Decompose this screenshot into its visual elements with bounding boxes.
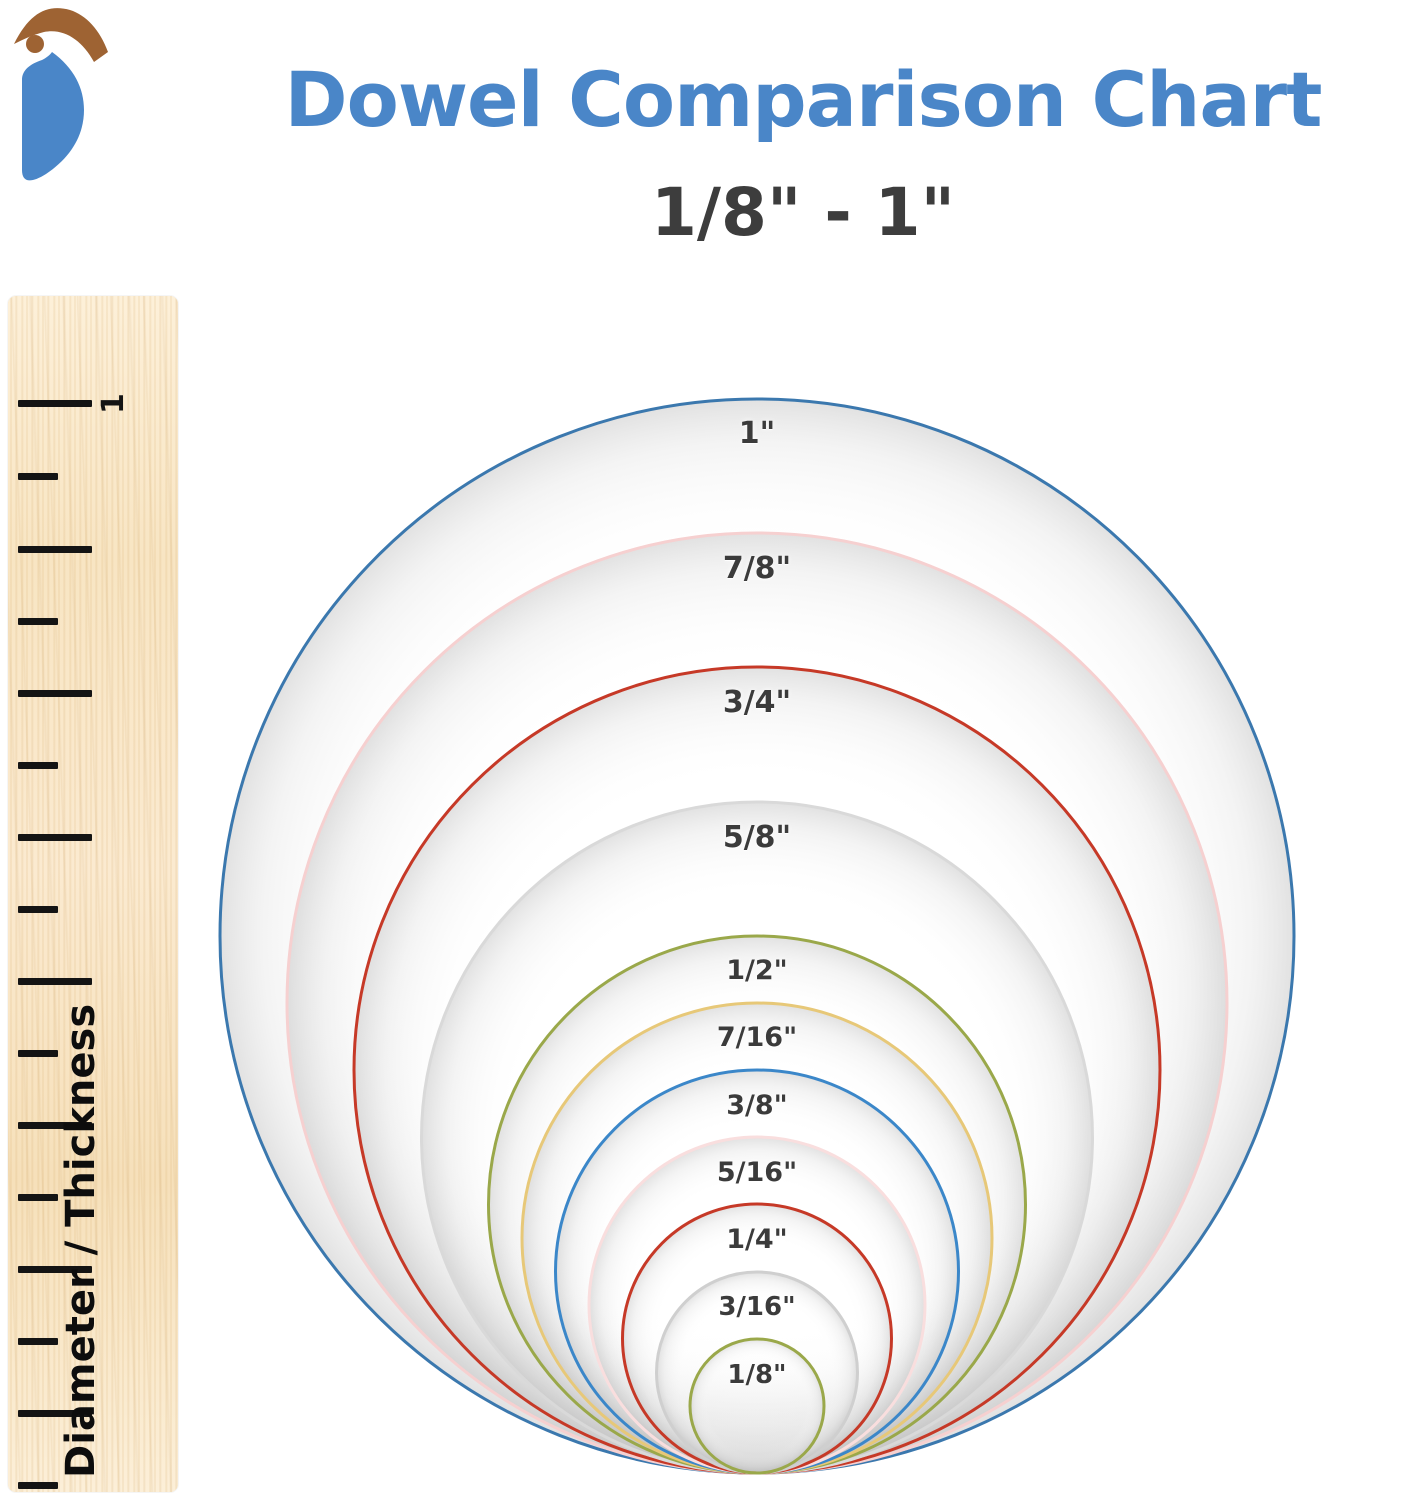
dowel-circle-group: [0, 0, 1426, 1500]
dowel-size-label: 1": [739, 416, 776, 451]
dowel-size-label: 5/8": [723, 820, 791, 855]
dowel-size-label: 3/4": [723, 685, 791, 720]
dowel-size-label: 7/8": [723, 551, 791, 586]
dowel-size-label: 7/16": [717, 1022, 797, 1053]
dowel-size-label: 3/16": [718, 1292, 795, 1322]
chart-canvas: Dowel Comparison Chart 1/8" - 1" 1 Diame…: [0, 0, 1426, 1500]
dowel-size-label: 3/8": [726, 1090, 788, 1121]
dowel-size-label: 1/8": [727, 1360, 786, 1390]
dowel-size-label: 1/2": [726, 955, 788, 986]
dowel-size-label: 5/16": [717, 1157, 797, 1188]
dowel-size-label: 1/4": [726, 1224, 788, 1255]
